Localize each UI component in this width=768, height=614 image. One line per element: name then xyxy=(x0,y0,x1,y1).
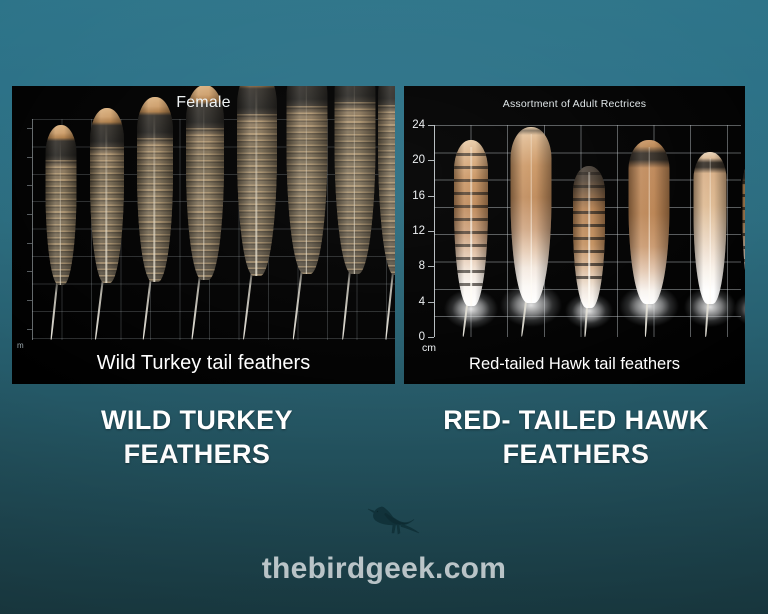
turkey-panel-caption: Wild Turkey tail feathers xyxy=(12,352,395,375)
hawk-tick xyxy=(428,160,434,161)
turkey-label-block: WILD TURKEY FEATHERS xyxy=(22,404,372,472)
turkey-tick xyxy=(27,128,32,129)
turkey-axis-line xyxy=(32,119,33,340)
turkey-tick xyxy=(27,243,32,244)
hawk-feather xyxy=(565,166,613,337)
hawk-feather xyxy=(500,127,562,337)
turkey-tick xyxy=(27,185,32,186)
turkey-feather-panel: Female xyxy=(12,86,395,384)
hawk-feather xyxy=(619,140,679,337)
hawk-panel-title: Assortment of Adult Rectrices xyxy=(404,98,745,110)
hawk-label-line1: RED- TAILED HAWK xyxy=(400,404,752,438)
turkey-label-line2: FEATHERS xyxy=(22,438,372,472)
turkey-feather xyxy=(38,125,84,340)
poster-canvas: Female xyxy=(0,0,768,614)
hawk-tick xyxy=(428,337,434,338)
turkey-tick xyxy=(27,329,32,330)
turkey-plot-area xyxy=(32,119,395,340)
hawk-tick-label: 8 xyxy=(419,260,425,272)
turkey-tick xyxy=(27,214,32,215)
site-url-text: thebirdgeek.com xyxy=(0,552,768,586)
turkey-panel-title: Female xyxy=(12,94,395,112)
hawk-tick-label: 16 xyxy=(412,190,425,202)
hawk-plot-area: 24 20 16 12 8 4 0 xyxy=(434,125,741,337)
turkey-tick xyxy=(27,300,32,301)
hawk-feather xyxy=(444,140,498,337)
bird-logo-icon xyxy=(362,496,422,546)
hawk-tick-label: 20 xyxy=(412,154,425,166)
hawk-tick-label: 12 xyxy=(412,225,425,237)
turkey-unit-label: m xyxy=(17,341,24,350)
hawk-tick xyxy=(428,266,434,267)
hawk-tick xyxy=(428,125,434,126)
hawk-label-line2: FEATHERS xyxy=(400,438,752,472)
hawk-tick-label: 4 xyxy=(419,296,425,308)
turkey-feather xyxy=(177,86,232,340)
hawk-tick xyxy=(428,196,434,197)
turkey-label-line1: WILD TURKEY xyxy=(22,404,372,438)
hawk-feather xyxy=(734,157,745,337)
hawk-panel-caption: Red-tailed Hawk tail feathers xyxy=(404,355,745,374)
turkey-feather xyxy=(372,86,395,340)
hawk-tick-label: 24 xyxy=(412,119,425,131)
hawk-tick xyxy=(428,302,434,303)
hawk-label-block: RED- TAILED HAWK FEATHERS xyxy=(400,404,752,472)
hawk-feather xyxy=(684,152,736,337)
turkey-tick xyxy=(27,157,32,158)
turkey-feather xyxy=(129,97,181,340)
turkey-tick xyxy=(27,271,32,272)
turkey-feather xyxy=(82,108,132,340)
hawk-axis-line xyxy=(434,125,435,337)
hawk-unit-label: cm xyxy=(422,342,436,354)
hawk-feather-panel: Assortment of Adult Rectrices 24 20 16 1… xyxy=(404,86,745,384)
hawk-tick xyxy=(428,231,434,232)
